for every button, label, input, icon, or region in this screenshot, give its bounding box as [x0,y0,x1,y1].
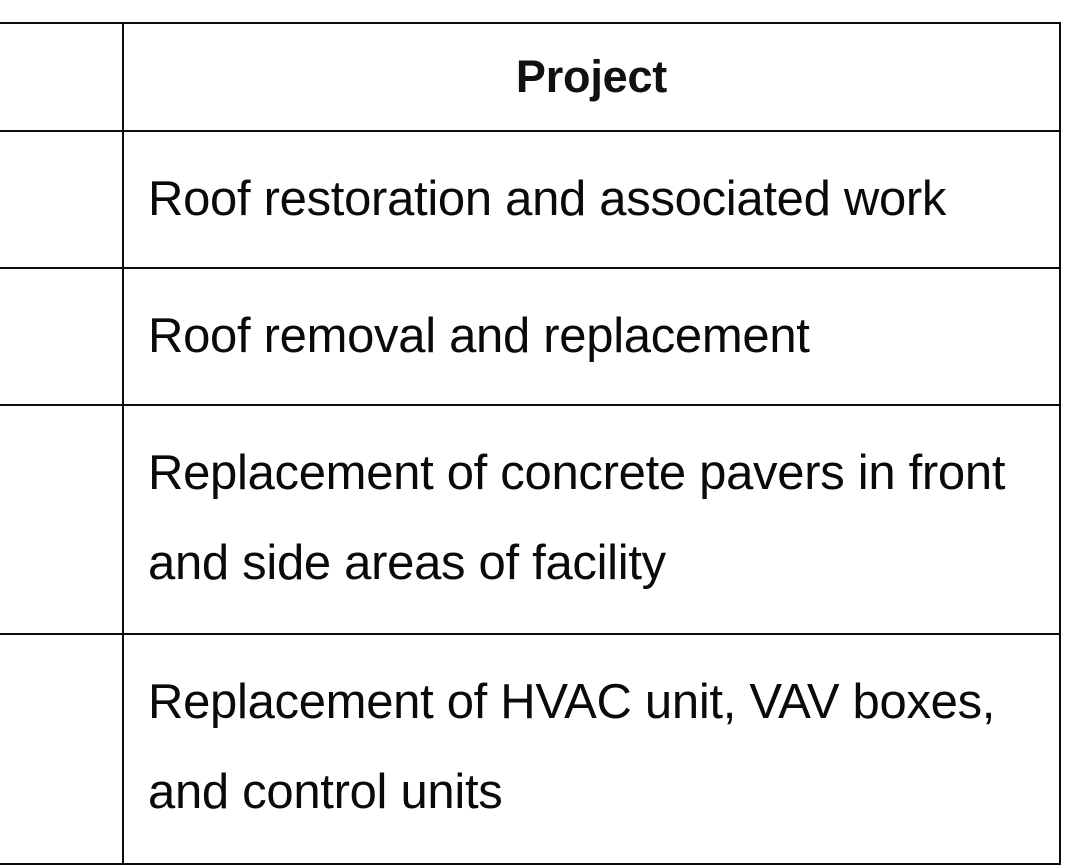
table-cell-index [0,634,123,864]
table-row: Roof restoration and associated work [0,131,1060,268]
column-header-project-label: Project [124,24,1059,130]
table-header-row: Project [0,23,1060,131]
table-cell-project: Replacement of HVAC unit, VAV boxes, and… [123,634,1060,864]
project-table: Project Roof restoration and associated … [0,22,1061,865]
table-body: Roof restoration and associated work Roo… [0,131,1060,864]
table-cell-index-text [0,635,122,679]
table-cell-index [0,131,123,268]
table-cell-project-text: Replacement of concrete pavers in front … [124,406,1059,630]
page-root: Project Roof restoration and associated … [0,0,1067,861]
table-cell-project-text: Roof removal and replacement [124,269,1059,403]
table-cell-index-text [0,269,122,313]
table-row: Replacement of concrete pavers in front … [0,405,1060,634]
table-cell-project: Roof restoration and associated work [123,131,1060,268]
table-cell-project: Replacement of concrete pavers in front … [123,405,1060,634]
column-header-index [0,23,123,131]
table-header: Project [0,23,1060,131]
table-cell-index-text [0,406,122,450]
table-cell-project-text: Replacement of HVAC unit, VAV boxes, and… [124,635,1059,859]
table-cell-project: Roof removal and replacement [123,268,1060,405]
column-header-project: Project [123,23,1060,131]
table-cell-index-text [0,132,122,176]
table-cell-index [0,405,123,634]
table-row: Roof removal and replacement [0,268,1060,405]
table-cell-project-text: Roof restoration and associated work [124,132,1059,266]
table-row: Replacement of HVAC unit, VAV boxes, and… [0,634,1060,864]
table-cell-index [0,268,123,405]
project-table-container: Project Roof restoration and associated … [0,22,1060,853]
